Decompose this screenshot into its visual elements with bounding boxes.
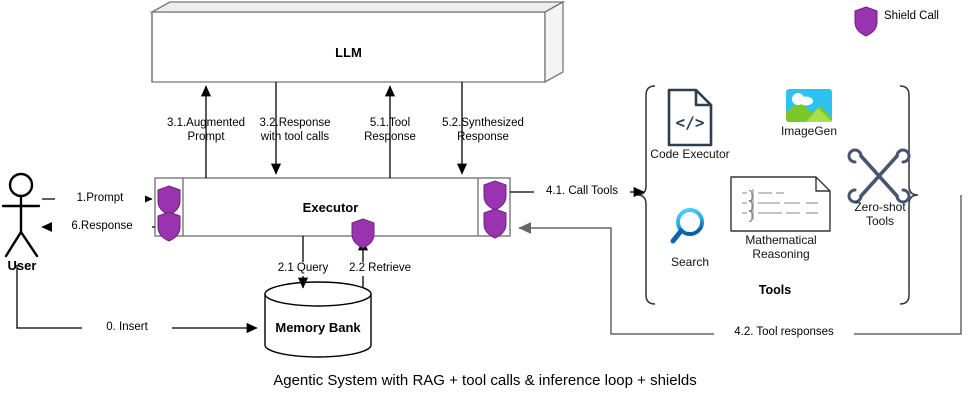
magnifier-icon	[673, 210, 702, 241]
diagram-vector-layer: </>	[0, 0, 970, 411]
edge-label-2-1: 2.1 Query	[265, 262, 341, 276]
memory-bank-label: Memory Bank	[258, 320, 378, 335]
tool-label-code-executor: Code Executor	[640, 147, 740, 161]
shield-exec-memory	[352, 219, 374, 248]
tool-label-search: Search	[650, 255, 730, 269]
formula-document-icon	[731, 177, 830, 231]
edge-label-4-1: 4.1. Call Tools	[534, 185, 630, 199]
tool-label-zero-shot-tools: Zero-shot Tools	[838, 200, 922, 228]
user-label: User	[0, 258, 44, 273]
diagram-caption: Agentic System with RAG + tool calls & i…	[0, 372, 970, 389]
edge-label-3-2: 3.2.Response with tool calls	[235, 117, 355, 144]
edge-label-4-2: 4.2. Tool responses	[714, 326, 854, 340]
edge-label-0: 0. Insert	[82, 321, 172, 335]
crossed-wrenches-icon	[849, 150, 909, 202]
legend-label: Shield Call	[884, 10, 939, 22]
edge-label-6: 6.Response	[52, 220, 152, 234]
edge-0	[17, 265, 257, 328]
image-icon	[786, 89, 832, 122]
edge-label-2-2: 2.2 Retrieve	[337, 262, 423, 276]
tool-label-imagegen: ImageGen	[764, 124, 854, 138]
code-document-icon: </>	[669, 90, 711, 145]
edge-label-1: 1.Prompt	[55, 192, 145, 206]
diagram-canvas: </>	[0, 0, 970, 411]
tool-label-math-reasoning: Mathematical Reasoning	[722, 233, 840, 261]
executor-label: Executor	[183, 200, 478, 215]
llm-node	[152, 2, 563, 82]
legend-shield-icon	[855, 7, 877, 36]
user-node	[3, 174, 39, 256]
svg-text:</>: </>	[676, 113, 705, 132]
edge-label-5-2: 5.2.Synthesized Response	[422, 117, 544, 144]
tools-group-label: Tools	[720, 283, 830, 297]
llm-label: LLM	[152, 45, 545, 60]
